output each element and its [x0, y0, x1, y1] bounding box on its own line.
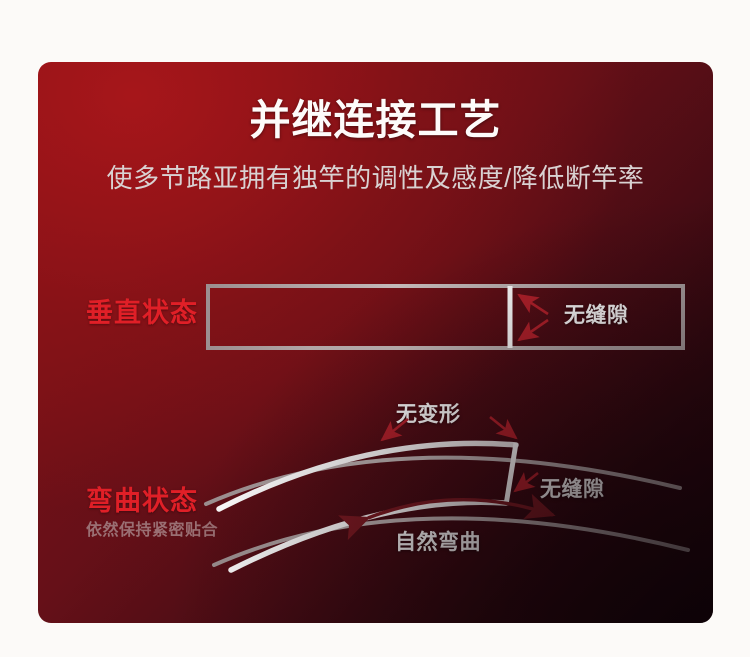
gap-arrow-bend-line: [515, 473, 538, 491]
outer-rod-body: [208, 286, 683, 348]
inner-rod-vertical: [250, 286, 510, 348]
vertical-state-diagram: [208, 286, 683, 348]
screenshot-root: 并继连接工艺 使多节路亚拥有独竿的调性及感度/降低断竿率 垂直状态 弯曲状态 依…: [0, 0, 750, 657]
outer-rod-vertical: [208, 286, 683, 348]
no-deform-arrows: [382, 417, 516, 440]
inner-rod-end-cap-bend: [506, 443, 516, 505]
gap-arrows-vertical: [519, 295, 548, 340]
rod-diagrams: [38, 62, 713, 623]
gap-arrow-up: [519, 295, 548, 314]
no-deform-arrow-right: [490, 417, 516, 438]
gap-arrow-down: [519, 320, 548, 340]
outer-rod-bottom-arc: [214, 518, 688, 565]
product-feature-card: 并继连接工艺 使多节路亚拥有独竿的调性及感度/降低断竿率 垂直状态 弯曲状态 依…: [38, 62, 713, 623]
no-deform-arrow-left: [382, 419, 408, 440]
inner-rod-bottom-arc: [231, 502, 506, 570]
gap-arrow-bend: [515, 473, 538, 491]
bend-state-diagram: [206, 417, 688, 570]
